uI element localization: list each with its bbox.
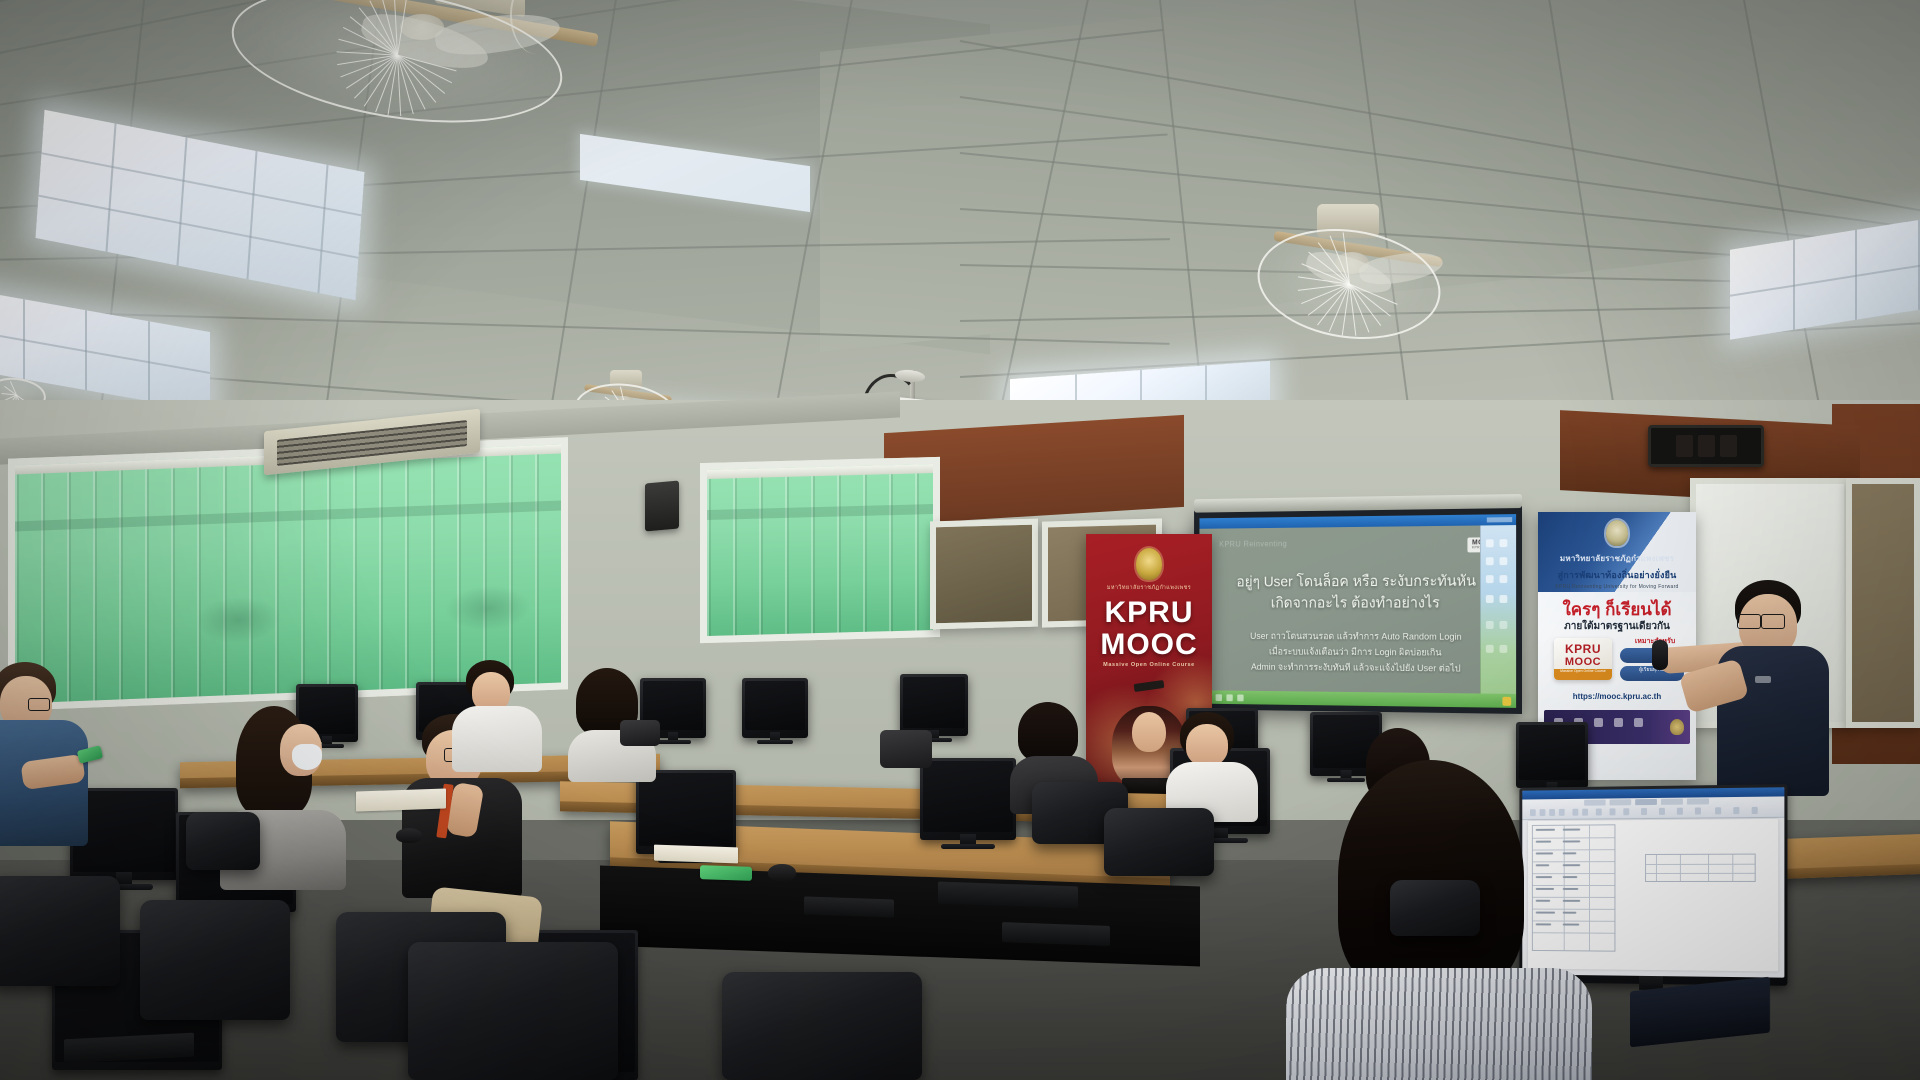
keyboard-3[interactable] [804,896,894,917]
banner-blue-english: KPRU Reinventing University for Moving F… [1538,584,1696,590]
backpack [880,730,932,768]
ceiling-fan-1 [220,0,640,150]
presenter-glasses-right [1761,614,1785,629]
window-right [700,457,940,643]
phone-on-desk[interactable] [700,865,752,881]
classroom-photo: KPRU Reinventing MOOC KPRU MOOC อยู่ๆ Us… [0,0,1920,1080]
chair-4 [408,942,618,1080]
logo-kpru: KPRU [1554,642,1612,656]
chair-2 [140,900,290,1020]
chair-6 [186,812,260,870]
microphone [1652,640,1668,670]
keyboard-2[interactable] [1002,922,1110,946]
notice-board-left [930,519,1038,630]
slide-content: KPRU Reinventing MOOC KPRU MOOC อยู่ๆ Us… [1199,525,1516,694]
ceiling-fan-2 [1255,200,1455,380]
monitor-mid-4 [920,758,1016,840]
chair-8 [1104,808,1214,876]
face-mask [292,744,322,770]
university-crest [1136,548,1162,580]
bag-on-desk [620,720,660,746]
presentation-slide: KPRU Reinventing MOOC KPRU MOOC อยู่ๆ Us… [1199,514,1516,708]
logo-mooc: MOOC [1554,656,1612,668]
presenter-glasses [1737,614,1761,629]
slide-watermark: KPRU Reinventing [1219,539,1287,548]
chair-9 [1390,880,1480,936]
monitor-back-5 [900,674,968,736]
chair-1 [0,876,120,986]
slide-body-text: User ถาวโดนสวนรอด แล้วทำการ Auto Random … [1199,629,1516,678]
slide-body-line1: User ถาวโดนสวนรอด แล้วทำการ Auto Random … [1212,629,1502,646]
banner-blue-url: https://mooc.kpru.ac.th [1538,692,1696,701]
banner-blue-crest [1606,520,1628,546]
notebook-1[interactable] [356,788,446,811]
banner-red-subtitle: Massive Open Online Course [1086,662,1212,668]
slide-side-panel [1480,525,1516,694]
foreground-student-hair [1338,760,1524,996]
student-white-polo [1168,712,1254,812]
banner-red-org: มหาวิทยาลัยราชภัฏกำแพงเพชร [1086,584,1212,592]
mouse-2[interactable] [396,828,422,843]
monitor-back-4 [742,678,808,738]
logo-subtitle: Massive Open Online Course [1554,669,1612,680]
banner-blue-thai-1: มหาวิทยาลัยราชภัฏกำแพงเพชร [1538,552,1696,565]
wall-speaker [645,481,679,532]
slide-body-line3: Admin จะทำการระงับทันที แล้วจะแจ้งไปยัง … [1212,660,1502,678]
slide-title-line1: อยู่ๆ User โดนล็อค หรือ ระงับกระทันหัน [1216,570,1499,593]
data-table-right [1645,854,1756,882]
window-blinds-right [707,464,933,636]
banner-blue-thai-2: สู่การพัฒนาท้องถิ่นอย่างยั่งยืน [1538,568,1696,582]
monitor-mid-3 [636,770,736,854]
projection-screen: KPRU Reinventing MOOC KPRU MOOC อยู่ๆ Us… [1194,506,1522,714]
slide-title: อยู่ๆ User โดนล็อค หรือ ระงับกระทันหัน เ… [1199,570,1516,615]
notebook-2[interactable] [654,845,738,864]
banner-red-title-2: MOOC [1086,628,1212,662]
ceiling-grid-line [1736,0,1825,436]
mouse-1[interactable] [768,864,796,881]
ceiling-grid-line [1542,0,1619,437]
student-on-phone [0,662,116,842]
slide-title-line2: เกิดจากอะไร ต้องทำอย่างไร [1216,593,1499,615]
slide-taskbar [1199,690,1516,708]
digital-wall-clock [1648,425,1764,467]
student-white-shirt [452,660,544,768]
presenter [1705,580,1865,800]
foreground-student-shirt [1286,968,1592,1080]
banner-blue-mooc-logo: KPRU MOOC Massive Open Online Course [1554,638,1612,680]
chair-5 [722,972,922,1080]
banner-red-title-1: KPRU [1086,596,1212,630]
presenter-shirt-logo [1755,676,1771,683]
